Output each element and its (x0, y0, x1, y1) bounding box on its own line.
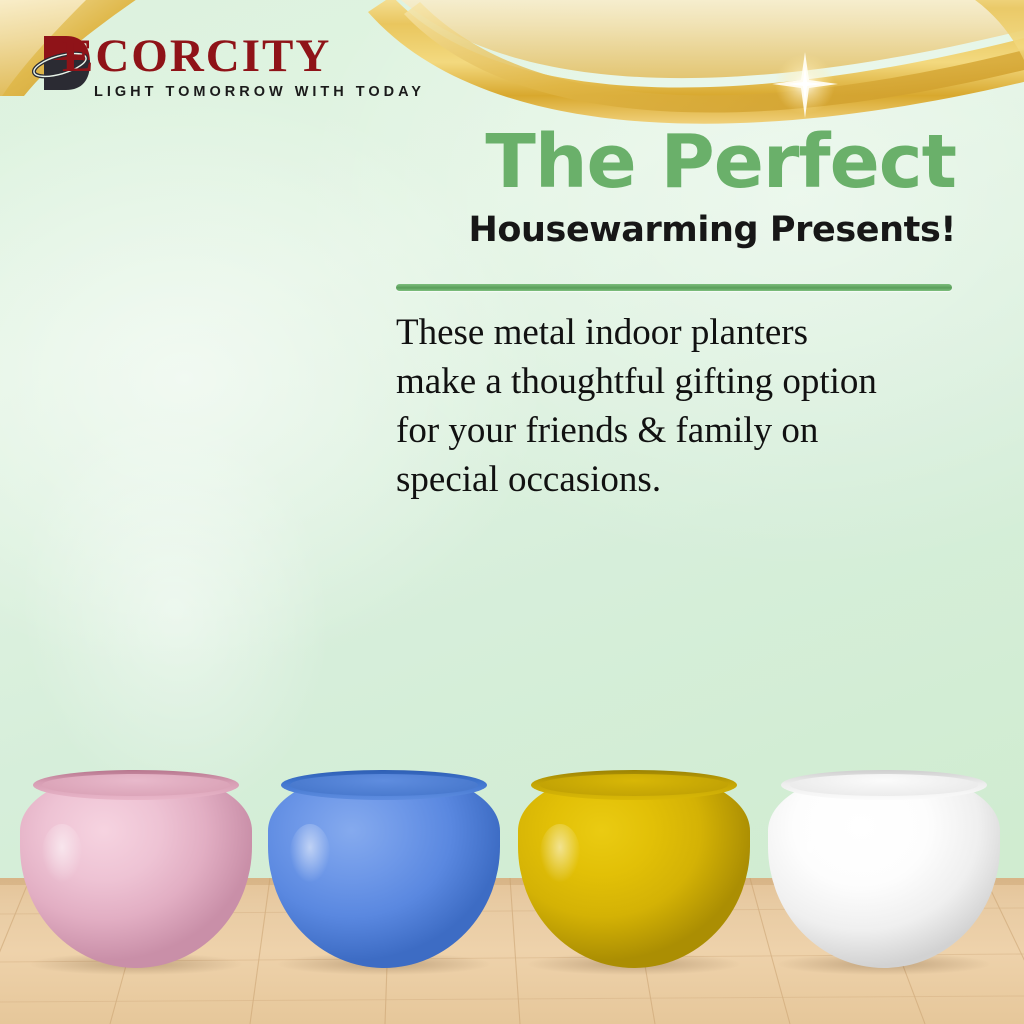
planter-body (768, 772, 1000, 968)
brand-wordmark: ECORCITY (62, 28, 331, 84)
section-divider (396, 284, 952, 291)
body-copy-line: special occasions. (396, 455, 962, 504)
body-copy-line: for your friends & family on (396, 406, 962, 455)
product-planter-pink[interactable] (20, 772, 252, 968)
headline: The Perfect (396, 122, 956, 202)
planter-body (518, 772, 750, 968)
planter-rim-opening (42, 774, 230, 796)
planter-rim-opening (540, 774, 728, 796)
product-planter-white[interactable] (768, 772, 1000, 968)
body-copy-line: make a thoughtful gifting option (396, 357, 962, 406)
subheadline: Housewarming Presents! (396, 208, 956, 252)
planter-rim-opening (790, 774, 978, 796)
product-planter-yellow[interactable] (518, 772, 750, 968)
brand-logo[interactable]: ECORCITY LIGHT TOMORROW WITH TODAY (32, 28, 404, 106)
planter-rim-opening (290, 774, 478, 796)
planter-body (20, 772, 252, 968)
body-copy-line: These metal indoor planters (396, 308, 962, 357)
body-copy: These metal indoor planters make a thoug… (396, 308, 962, 504)
planter-body (268, 772, 500, 968)
product-planter-blue[interactable] (268, 772, 500, 968)
brand-tagline: LIGHT TOMORROW WITH TODAY (94, 84, 425, 100)
product-marketing-image: ECORCITY LIGHT TOMORROW WITH TODAY The P… (0, 0, 1024, 1024)
